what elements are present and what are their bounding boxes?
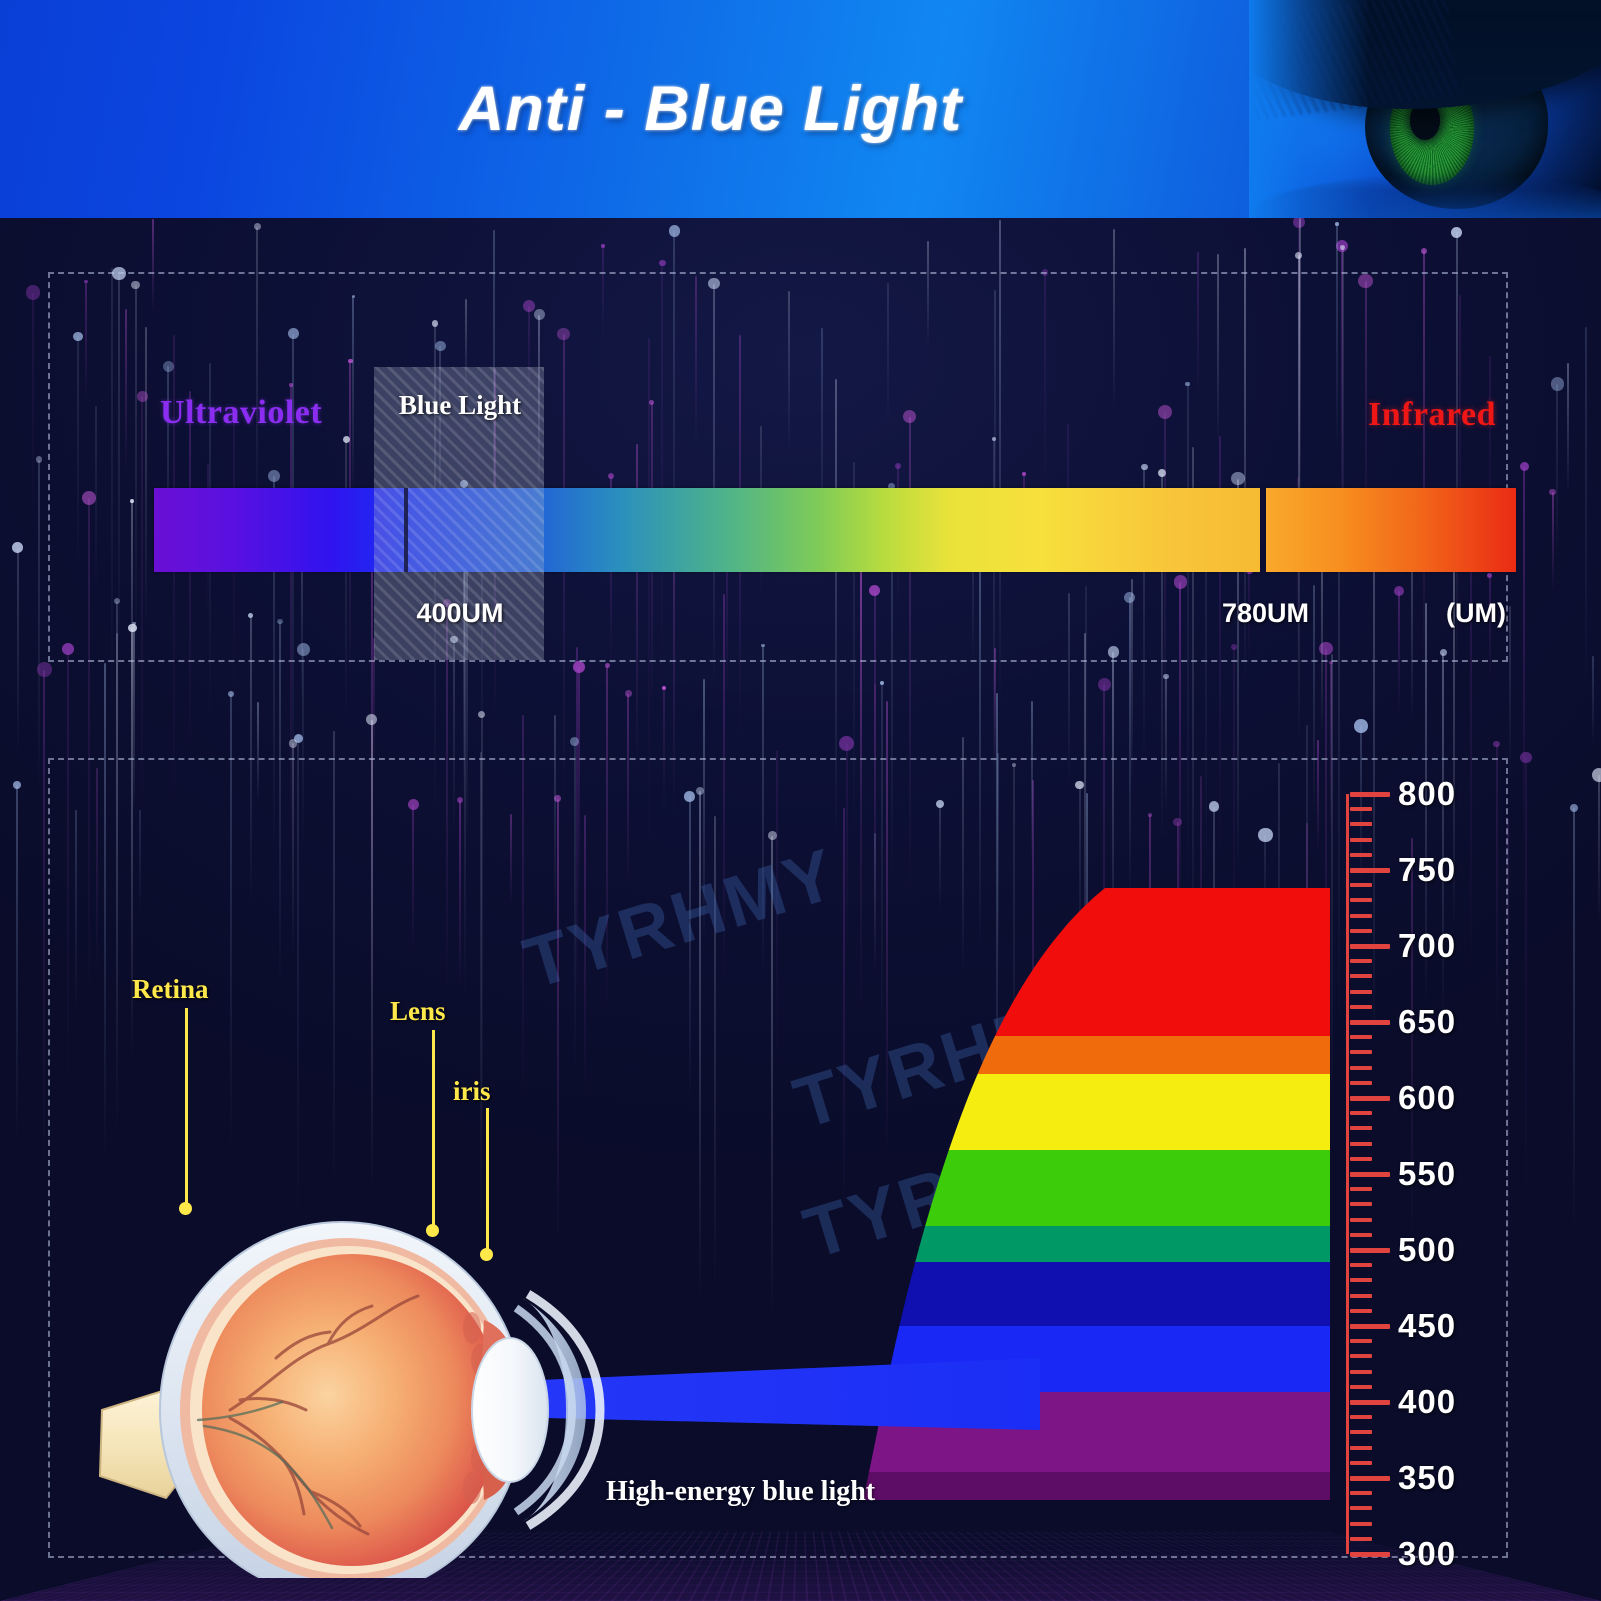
axis-tick-major xyxy=(1350,1020,1390,1025)
axis-tick-minor xyxy=(1350,929,1372,933)
page-title: Anti - Blue Light xyxy=(0,0,1601,218)
light-particle xyxy=(37,662,52,677)
light-particle xyxy=(1340,245,1345,250)
light-streak xyxy=(38,460,40,791)
axis-tick-minor xyxy=(1350,1081,1372,1085)
light-particle xyxy=(1570,804,1578,812)
light-streak xyxy=(1567,363,1569,494)
light-particle xyxy=(1549,489,1556,496)
light-streak xyxy=(1598,775,1600,922)
lens xyxy=(472,1338,548,1482)
light-particle xyxy=(1354,719,1368,733)
axis-tick-minor xyxy=(1350,1354,1372,1358)
axis-tick-minor xyxy=(1350,1111,1372,1115)
light-particle xyxy=(12,542,23,553)
light-particle xyxy=(366,714,377,725)
light-particle xyxy=(13,781,21,789)
axis-tick-label: 650 xyxy=(1398,1003,1456,1041)
axis-tick-minor xyxy=(1350,853,1372,857)
light-streak xyxy=(1509,606,1511,781)
light-streak xyxy=(1573,808,1575,1233)
content-stage: TYRHMY TYRHMY TYRHMY Ultraviolet Infrare… xyxy=(0,218,1601,1601)
light-streak xyxy=(1552,492,1554,591)
light-particle xyxy=(659,260,665,266)
light-streak xyxy=(17,548,19,756)
axis-tick-minor xyxy=(1350,1446,1372,1450)
light-particle xyxy=(254,223,261,230)
axis-tick-major xyxy=(1350,1172,1390,1177)
axis-tick-label: 750 xyxy=(1398,851,1456,889)
light-particle xyxy=(1520,462,1529,471)
light-streak xyxy=(16,785,18,1142)
axis-tick-minor xyxy=(1350,1066,1372,1070)
axis-tick-minor xyxy=(1350,914,1372,918)
axis-tick-minor xyxy=(1350,1415,1372,1419)
lens-label: Lens xyxy=(390,996,446,1027)
blue-light-label: Blue Light xyxy=(380,390,540,421)
retina-leader-line xyxy=(185,1008,188,1210)
visible-spectrum-bar xyxy=(154,488,1260,572)
iris-leader-dot xyxy=(480,1248,493,1261)
axis-tick-minor xyxy=(1350,1506,1372,1510)
axis-tick-minor xyxy=(1350,898,1372,902)
axis-tick-label: 600 xyxy=(1398,1079,1456,1117)
axis-tick-minor xyxy=(1350,1050,1372,1054)
axis-tick-label: 700 xyxy=(1398,927,1456,965)
axis-tick-label: 450 xyxy=(1398,1307,1456,1345)
light-particle xyxy=(570,737,579,746)
spectrum-divider-400 xyxy=(404,488,408,572)
light-streak xyxy=(32,293,34,514)
light-particle xyxy=(1098,678,1111,691)
axis-tick-major xyxy=(1350,1552,1390,1557)
iris-label: iris xyxy=(453,1076,491,1107)
axis-tick-minor xyxy=(1350,1537,1372,1541)
axis-tick-label: 350 xyxy=(1398,1459,1456,1497)
axis-tick-major xyxy=(1350,868,1390,873)
retina-label: Retina xyxy=(132,974,209,1005)
light-streak xyxy=(1585,327,1587,698)
axis-tick-minor xyxy=(1350,807,1372,811)
light-particle xyxy=(1451,227,1462,238)
wavelength-axis: 800750700650600550500450400350300 xyxy=(1346,778,1566,1578)
light-particle xyxy=(1493,741,1499,747)
eye-anatomy-illustration xyxy=(80,1058,1080,1578)
wavelength-780-label: 780UM xyxy=(1222,598,1309,629)
axis-tick-major xyxy=(1350,792,1390,797)
axis-tick-label: 300 xyxy=(1398,1535,1456,1573)
axis-tick-label: 800 xyxy=(1398,775,1456,813)
axis-tick-major xyxy=(1350,1400,1390,1405)
light-particle xyxy=(1551,377,1564,390)
axis-tick-minor xyxy=(1350,1233,1372,1237)
light-streak xyxy=(43,670,45,1181)
axis-tick-minor xyxy=(1350,1187,1372,1191)
light-particle xyxy=(662,686,666,690)
axis-tick-minor xyxy=(1350,1263,1372,1267)
axis-tick-major xyxy=(1350,944,1390,949)
axis-tick-minor xyxy=(1350,959,1372,963)
axis-tick-major xyxy=(1350,1476,1390,1481)
light-streak xyxy=(1592,656,1594,747)
axis-tick-minor xyxy=(1350,1522,1372,1526)
lens-leader-line xyxy=(432,1030,435,1232)
axis-tick-label: 550 xyxy=(1398,1155,1456,1193)
ultraviolet-label: Ultraviolet xyxy=(160,394,322,432)
axis-tick-minor xyxy=(1350,1370,1372,1374)
axis-tick-minor xyxy=(1350,822,1372,826)
light-particle xyxy=(26,285,40,299)
axis-tick-minor xyxy=(1350,1202,1372,1206)
band-red xyxy=(830,888,1330,1036)
lens-leader-dot xyxy=(426,1224,439,1237)
axis-tick-major xyxy=(1350,1248,1390,1253)
wavelength-400-label: 400UM xyxy=(380,598,540,629)
axis-tick-minor xyxy=(1350,974,1372,978)
axis-tick-minor xyxy=(1350,1218,1372,1222)
axis-tick-minor xyxy=(1350,1309,1372,1313)
axis-tick-minor xyxy=(1350,1126,1372,1130)
axis-tick-major xyxy=(1350,1324,1390,1329)
light-particle xyxy=(880,681,884,685)
unit-label: (UM) xyxy=(1446,598,1506,629)
light-streak xyxy=(1556,384,1558,559)
axis-tick-minor xyxy=(1350,1157,1372,1161)
axis-tick-major xyxy=(1350,1096,1390,1101)
iris-leader-line xyxy=(486,1108,489,1256)
axis-tick-minor xyxy=(1350,1339,1372,1343)
header-banner: Anti - Blue Light xyxy=(0,0,1601,218)
light-particle xyxy=(36,456,43,463)
axis-tick-minor xyxy=(1350,1294,1372,1298)
light-particle xyxy=(669,225,680,236)
vitreous-body xyxy=(202,1254,502,1566)
infrared-spectrum-bar xyxy=(1266,488,1516,572)
axis-tick-minor xyxy=(1350,1142,1372,1146)
spectrum-panel: Ultraviolet Infrared Blue Light 400UM 78… xyxy=(48,272,1508,662)
beam-label: High-energy blue light xyxy=(606,1476,875,1508)
light-particle xyxy=(573,661,585,673)
axis-tick-minor xyxy=(1350,990,1372,994)
axis-tick-minor xyxy=(1350,1278,1372,1282)
retina-leader-dot xyxy=(179,1202,192,1215)
axis-tick-minor xyxy=(1350,1035,1372,1039)
axis-tick-minor xyxy=(1350,883,1372,887)
light-particle xyxy=(839,736,854,751)
axis-tick-label: 400 xyxy=(1398,1383,1456,1421)
axis-tick-label: 500 xyxy=(1398,1231,1456,1269)
light-particle xyxy=(625,690,632,697)
axis-tick-minor xyxy=(1350,1461,1372,1465)
light-particle xyxy=(1520,752,1531,763)
axis-tick-minor xyxy=(1350,1005,1372,1009)
light-particle xyxy=(1592,768,1601,782)
infrared-label: Infrared xyxy=(1368,396,1496,434)
axis-tick-minor xyxy=(1350,1385,1372,1389)
light-particle xyxy=(478,711,485,718)
axis-tick-minor xyxy=(1350,1491,1372,1495)
light-particle xyxy=(1335,222,1339,226)
axis-line xyxy=(1346,794,1349,1554)
light-particle xyxy=(1421,248,1427,254)
axis-tick-minor xyxy=(1350,838,1372,842)
axis-tick-minor xyxy=(1350,1430,1372,1434)
light-particle xyxy=(601,244,605,248)
